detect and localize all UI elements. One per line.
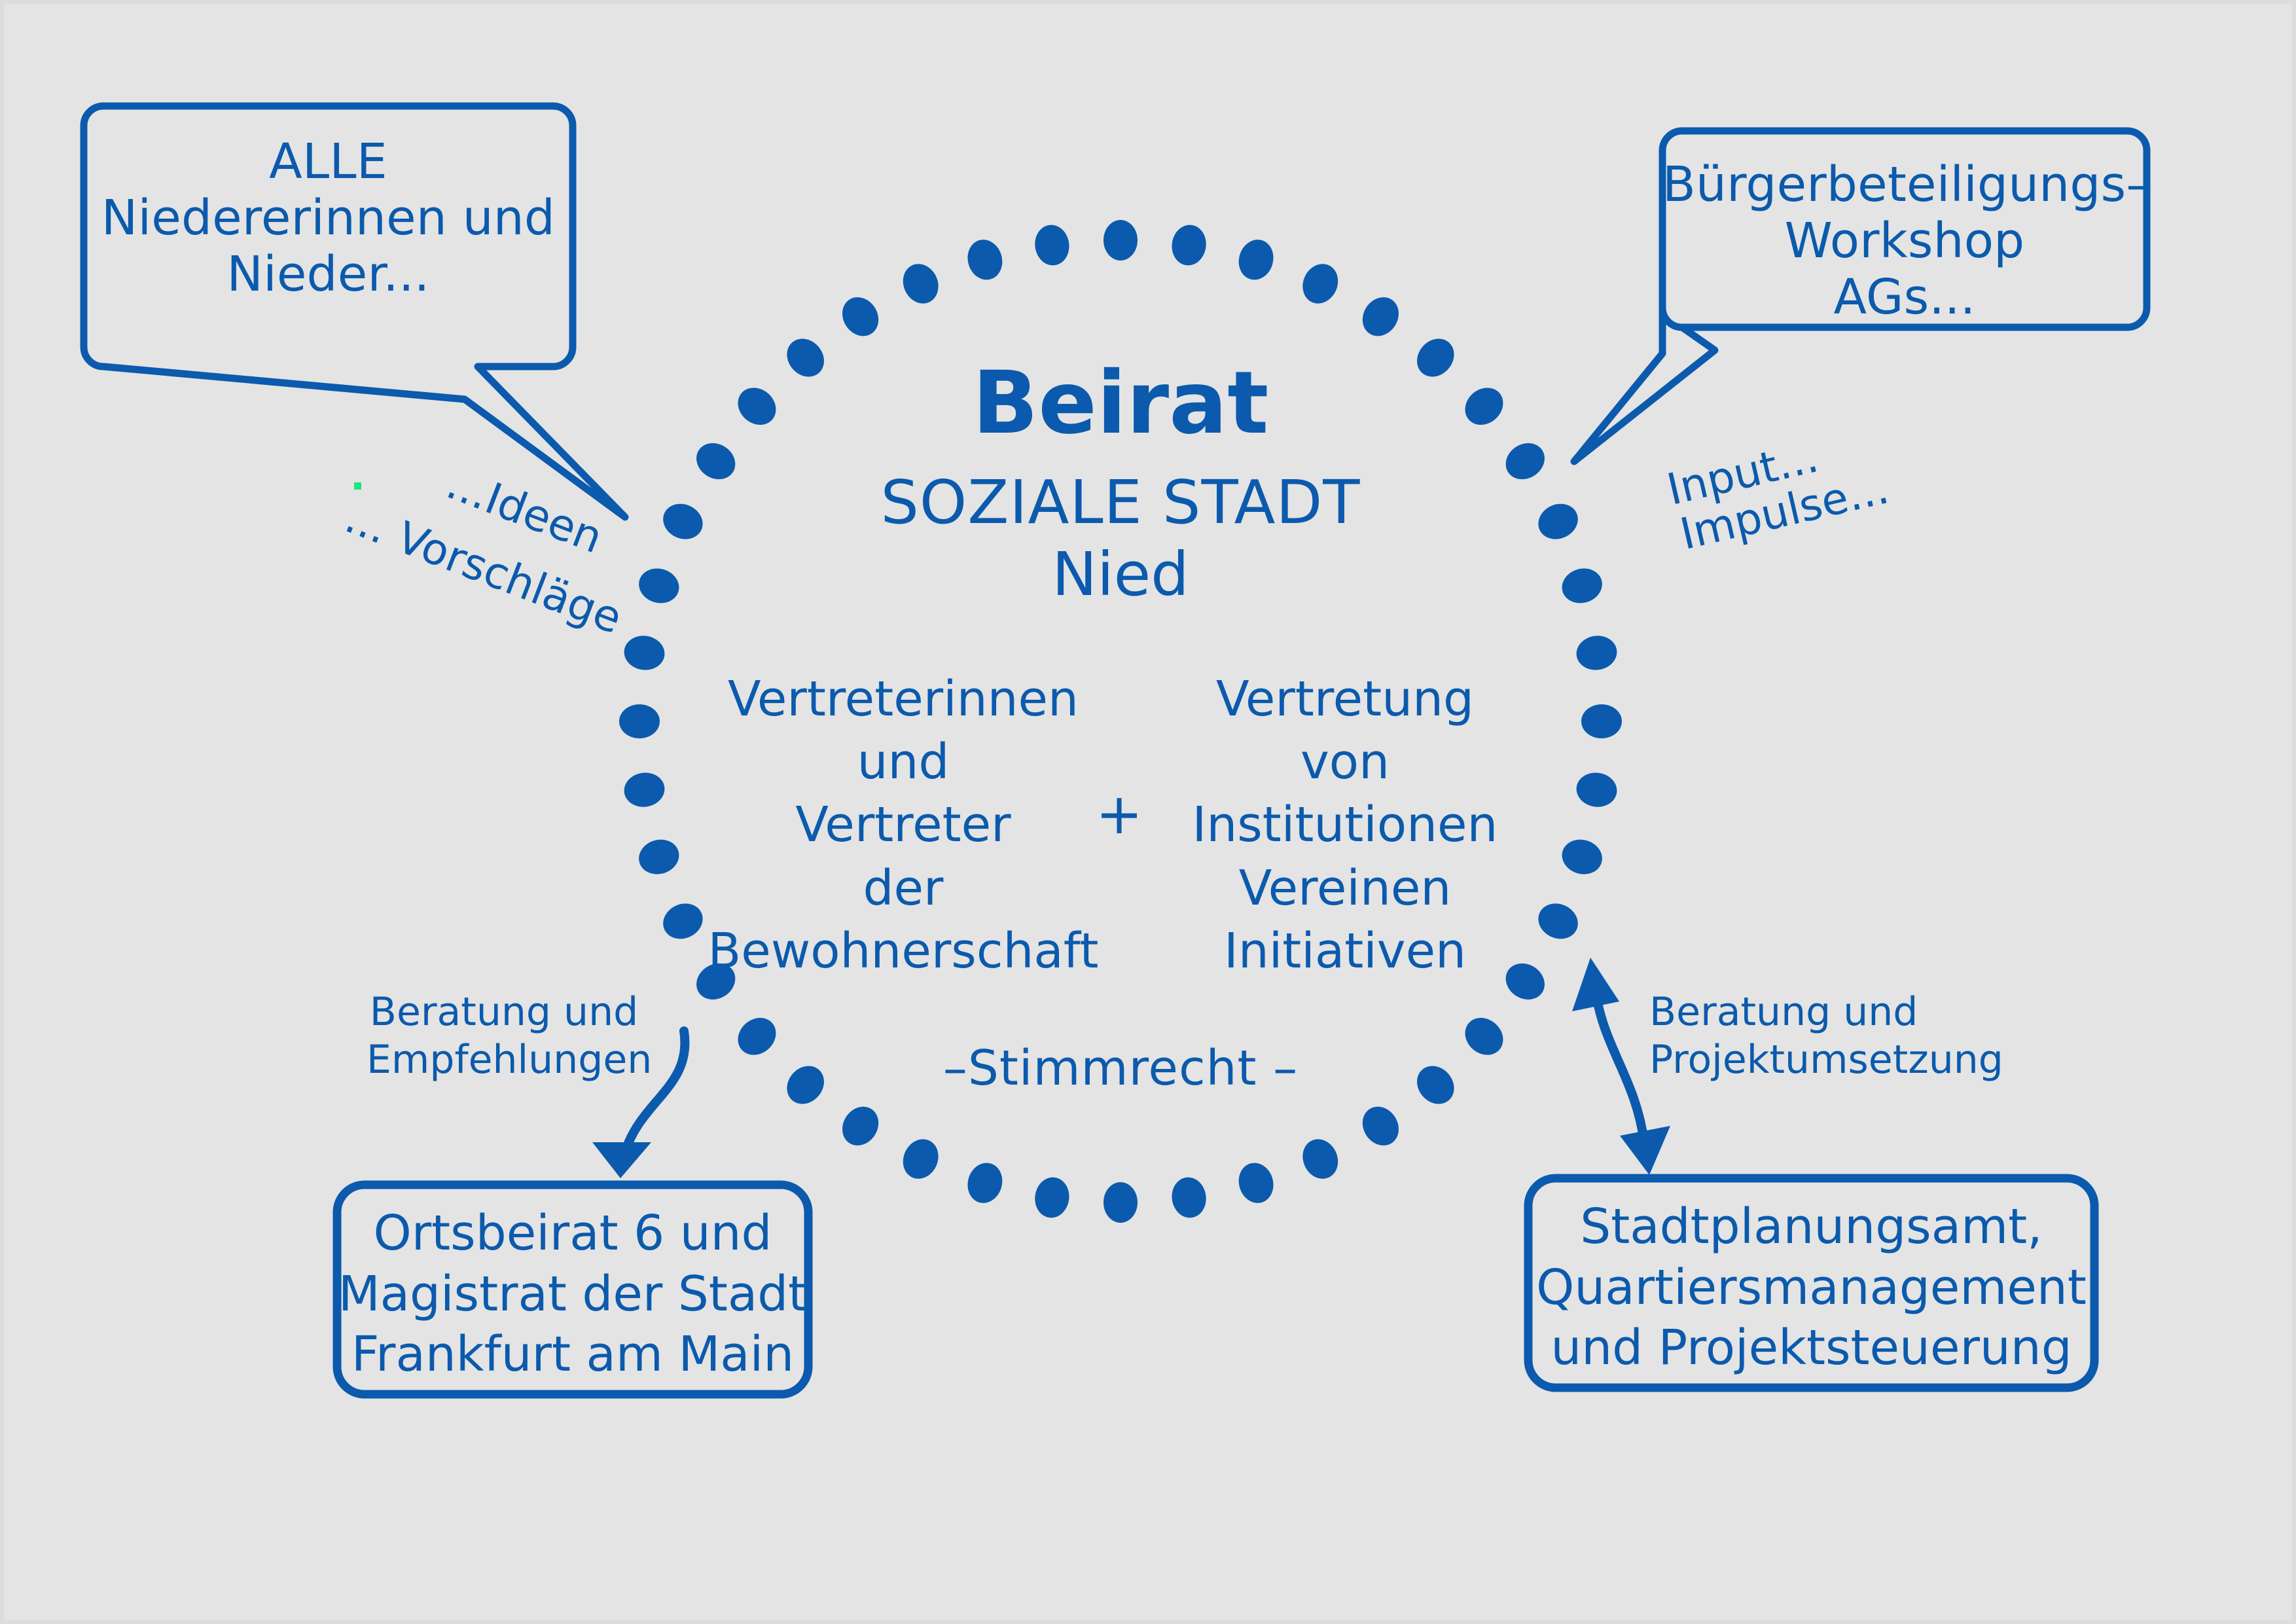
voting-rights-note: –Stimmrecht – bbox=[833, 1041, 1408, 1097]
bubble-tl-line-1: ALLE bbox=[84, 134, 573, 190]
annotation-beratung-projektumsetzung: Beratung und Projektumsetzung bbox=[1649, 988, 2042, 1084]
left-lower-line-1: Beratung und bbox=[367, 988, 641, 1036]
green-artifact bbox=[354, 482, 361, 490]
bubble-tl-line-2: Niedererinnen und bbox=[84, 190, 573, 247]
annotation-beratung-empfehlungen: Beratung und Empfehlungen bbox=[367, 988, 641, 1084]
speech-bubble-top-right[interactable]: Bürgerbeteiligungs– Workshop AGs... bbox=[1662, 157, 2147, 325]
bl-box-line-1: Ortsbeirat 6 und bbox=[337, 1203, 808, 1264]
right-col-line-3: Institutionen bbox=[1142, 793, 1548, 856]
right-col-line-4: Vereinen bbox=[1142, 857, 1548, 920]
right-col-line-5: Initiativen bbox=[1142, 920, 1548, 983]
bl-box-line-2: Magistrat der Stadt bbox=[337, 1264, 808, 1325]
center-left-column: Vertreterinnen und Vertreter der Bewohne… bbox=[694, 668, 1113, 983]
left-col-line-5: Bewohnerschaft bbox=[694, 920, 1113, 983]
left-col-line-3: Vertreter bbox=[694, 793, 1113, 856]
right-lower-line-2: Projektumsetzung bbox=[1649, 1036, 2042, 1084]
br-box-line-2: Quartiersmanagement bbox=[1528, 1257, 2094, 1318]
center-right-column: Vertretung von Institutionen Vereinen In… bbox=[1142, 668, 1548, 983]
diagram-canvas: ALLE Niedererinnen und Nieder... Bürgerb… bbox=[0, 0, 2296, 1624]
center-location: Nied bbox=[728, 540, 1513, 610]
left-col-line-4: der bbox=[694, 857, 1113, 920]
br-box-line-3: und Projektsteuerung bbox=[1528, 1318, 2094, 1379]
center-subtitle: SOZIALE STADT bbox=[728, 468, 1513, 538]
bl-box-line-3: Frankfurt am Main bbox=[337, 1324, 808, 1385]
left-col-line-1: Vertreterinnen bbox=[694, 668, 1113, 731]
page-title: Beirat bbox=[793, 353, 1448, 454]
bottom-right-box[interactable]: Stadtplanungsamt, Quartiersmanagement un… bbox=[1528, 1197, 2094, 1379]
right-lower-line-1: Beratung und bbox=[1649, 988, 2042, 1036]
br-box-line-1: Stadtplanungsamt, bbox=[1528, 1197, 2094, 1257]
speech-bubble-top-left[interactable]: ALLE Niedererinnen und Nieder... bbox=[84, 134, 573, 302]
left-col-line-2: und bbox=[694, 731, 1113, 793]
left-lower-line-2: Empfehlungen bbox=[367, 1036, 641, 1084]
bubble-tr-line-1: Bürgerbeteiligungs– bbox=[1662, 157, 2147, 213]
right-col-line-1: Vertretung bbox=[1142, 668, 1548, 731]
right-col-line-2: von bbox=[1142, 731, 1548, 793]
bubble-tl-line-3: Nieder... bbox=[84, 247, 573, 303]
bubble-tr-line-2: Workshop bbox=[1662, 213, 2147, 270]
bubble-tr-line-3: AGs... bbox=[1662, 270, 2147, 326]
bottom-left-box[interactable]: Ortsbeirat 6 und Magistrat der Stadt Fra… bbox=[337, 1203, 808, 1385]
